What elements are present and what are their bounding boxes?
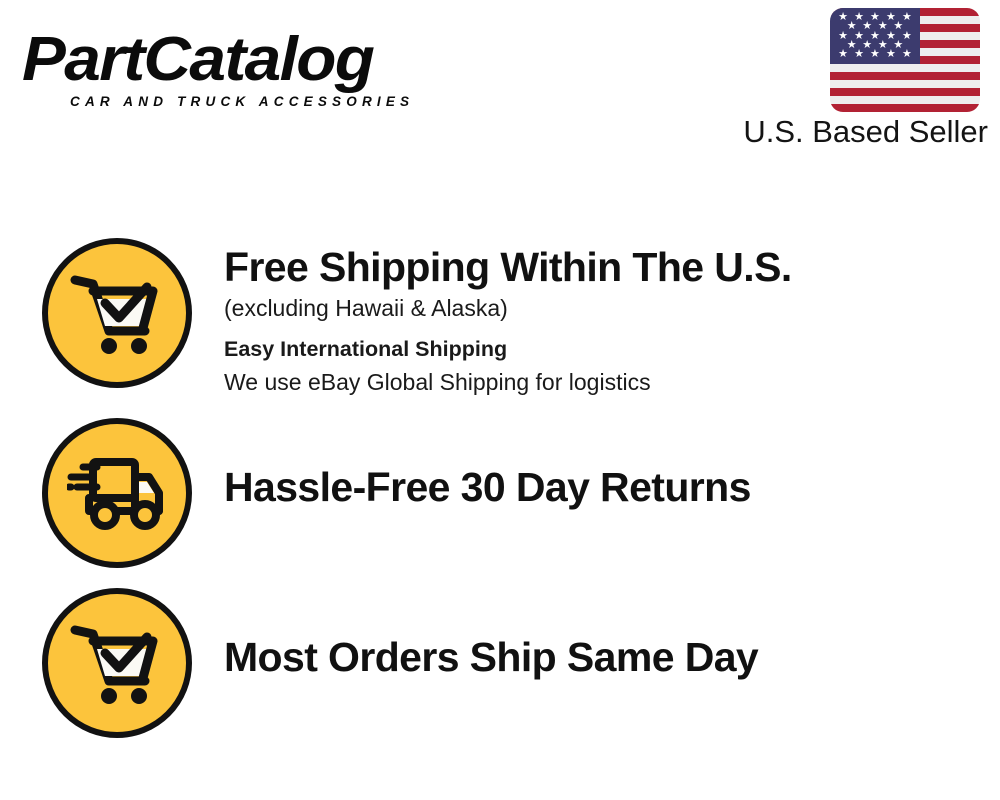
shopping-cart-check-icon: [42, 238, 192, 388]
feature-title: Free Shipping Within The U.S.: [224, 242, 1000, 292]
us-based-seller-label: U.S. Based Seller: [722, 114, 988, 150]
feature-text-returns: Hassle-Free 30 Day Returns: [192, 418, 1000, 512]
feature-row-same-day-shipping: Most Orders Ship Same Day: [0, 588, 1000, 738]
us-flag-icon: ★★★★★ ★★★★ ★★★★★ ★★★★ ★★★★★: [830, 8, 980, 112]
brand-wordmark: PartCatalog: [22, 28, 520, 92]
delivery-truck-icon: [42, 418, 192, 568]
flag-canton: ★★★★★ ★★★★ ★★★★★ ★★★★ ★★★★★: [830, 8, 920, 64]
feature-row-returns: Hassle-Free 30 Day Returns: [0, 418, 1000, 568]
feature-title: Most Orders Ship Same Day: [224, 632, 1000, 682]
brand-tagline: CAR AND TRUCK ACCESSORIES: [70, 94, 492, 109]
feature-subtext: We use eBay Global Shipping for logistic…: [224, 366, 1000, 398]
shopping-cart-check-icon: [42, 588, 192, 738]
feature-row-free-shipping: Free Shipping Within The U.S. (excluding…: [0, 238, 1000, 398]
feature-text-same-day: Most Orders Ship Same Day: [192, 588, 1000, 682]
page-header: PartCatalog CAR AND TRUCK ACCESSORIES ★★…: [0, 0, 1000, 170]
feature-text-free-shipping: Free Shipping Within The U.S. (excluding…: [192, 238, 1000, 398]
feature-subheading: Easy International Shipping: [224, 332, 1000, 366]
brand-logo[interactable]: PartCatalog CAR AND TRUCK ACCESSORIES: [22, 28, 492, 118]
feature-note: (excluding Hawaii & Alaska): [224, 292, 1000, 324]
feature-title: Hassle-Free 30 Day Returns: [224, 462, 1000, 512]
flag-star-grid: ★★★★★ ★★★★ ★★★★★ ★★★★ ★★★★★: [830, 8, 920, 64]
us-based-seller-badge: ★★★★★ ★★★★ ★★★★★ ★★★★ ★★★★★ U.S. Based S…: [722, 8, 992, 150]
